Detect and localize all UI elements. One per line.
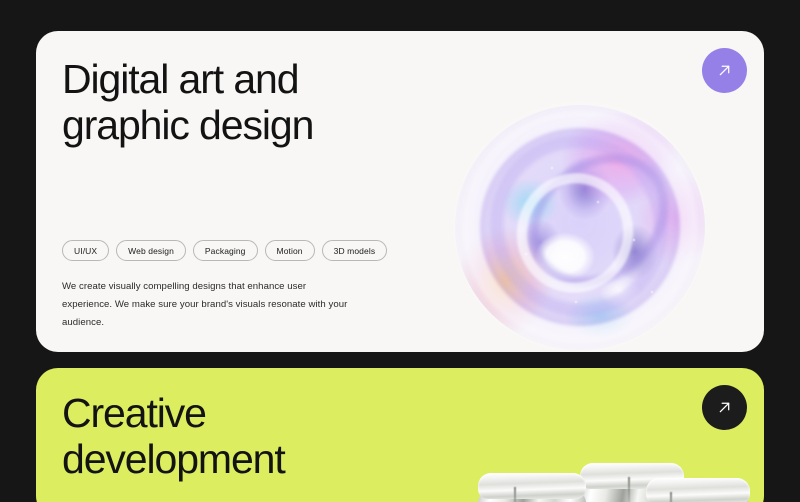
page-root: Digital art and graphic design UI/UX Web… bbox=[0, 0, 800, 502]
card-creative-heading: Creative development bbox=[62, 390, 285, 482]
artwork-speck bbox=[525, 253, 527, 255]
iridescent-3d-torus-knot-artwork bbox=[455, 105, 705, 350]
chrome-cube-left bbox=[478, 473, 586, 502]
tag-pill-motion[interactable]: Motion bbox=[265, 240, 315, 261]
tag-pill-packaging[interactable]: Packaging bbox=[193, 240, 258, 261]
artwork-ring-mid bbox=[462, 107, 697, 345]
chrome-cube-seam bbox=[670, 492, 672, 502]
chrome-cube-right bbox=[646, 478, 750, 502]
card-creative-arrow-button[interactable] bbox=[702, 385, 747, 430]
artwork-speck bbox=[633, 239, 635, 241]
artwork-speck bbox=[651, 291, 653, 293]
tag-pill-3d-models[interactable]: 3D models bbox=[322, 240, 388, 261]
artwork-ring-outer bbox=[463, 111, 697, 343]
artwork-speck bbox=[551, 167, 553, 169]
chrome-cube-top bbox=[646, 478, 750, 502]
artwork-speck bbox=[597, 201, 599, 203]
chrome-cube-seam bbox=[514, 487, 516, 502]
arrow-up-right-icon bbox=[716, 399, 733, 416]
tag-list: UI/UX Web design Packaging Motion 3D mod… bbox=[62, 240, 387, 261]
artwork-speck bbox=[575, 301, 577, 303]
artwork-ring-knot bbox=[503, 127, 695, 314]
arrow-up-right-icon bbox=[716, 62, 733, 79]
tag-pill-uiux[interactable]: UI/UX bbox=[62, 240, 109, 261]
card-digital-art: Digital art and graphic design UI/UX Web… bbox=[36, 31, 764, 352]
tag-pill-web-design[interactable]: Web design bbox=[116, 240, 186, 261]
card-digital-heading: Digital art and graphic design bbox=[62, 56, 313, 148]
chrome-cube-seam bbox=[628, 477, 630, 502]
card-digital-arrow-button[interactable] bbox=[702, 48, 747, 93]
card-digital-description: We create visually compelling designs th… bbox=[62, 278, 352, 332]
artwork-ring-inner bbox=[501, 158, 648, 308]
chrome-cube-top bbox=[478, 473, 586, 499]
